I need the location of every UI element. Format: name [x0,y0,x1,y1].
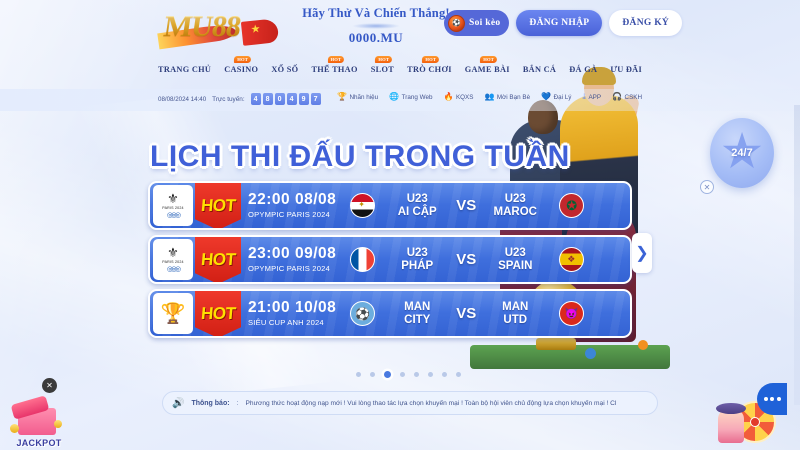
nav-item-3[interactable]: THỂ THAOHOT [311,65,357,74]
match-schedule-list: ⚜PARIS 2024◎◎◎HOT22:00 08/08OPYMPIC PARI… [148,181,648,343]
info-strip-links: 🏆Nhãn hiệu🌐Trang Web🔥KQXS👥Mời Bạn Bè💙Đại… [337,93,642,101]
support-24-7-label: 24/7 [731,147,752,159]
nav-item-label: ĐÁ GÀ [569,65,597,74]
league-logo-mark-icon: ⚜ [167,246,179,259]
away-team-line-2: MAROC [483,206,547,218]
info-link-3[interactable]: 👥Mời Bạn Bè [484,93,530,101]
match-row[interactable]: ⚜PARIS 2024◎◎◎HOT22:00 08/08OPYMPIC PARI… [148,181,632,230]
info-link-label: Trang Web [402,94,433,101]
header-actions: ⚽ Soi kèo ĐĂNG NHẬP ĐĂNG KÝ [444,10,682,36]
support-widget-close-icon[interactable]: ✕ [700,180,714,194]
nav-item-label: GAME BÀI [465,65,510,74]
carousel-dot-7[interactable] [456,372,461,377]
carousel-dot-0[interactable] [356,372,361,377]
announcement-text: Phương thức hoạt động nạp mới ! Vui lòng… [246,400,617,407]
mascot-hat-icon [716,403,746,414]
away-team-name: U23SPAIN [483,247,547,271]
nav-hot-badge: HOT [422,56,439,63]
home-team-line-1: MAN [385,301,449,313]
match-row[interactable]: 🏆HOT21:00 10/08SIÊU CUP ANH 2024MANCITYV… [148,289,632,338]
flame-icon: 🔥 [443,93,453,101]
away-team-name: U23MAROC [483,193,547,217]
more-dots-icon [770,397,774,401]
jackpot-widget[interactable]: JACKPOT [8,398,70,448]
home-team-name: MANCITY [385,301,449,325]
info-link-label: CSKH [625,94,643,101]
current-datetime: 08/08/2024 14:40 [158,96,206,103]
away-team-line-2: SPAIN [483,260,547,272]
nav-item-label: SLOT [371,65,394,74]
counter-digit: 4 [251,93,261,105]
soi-keo-button[interactable]: ⚽ Soi kèo [444,10,509,36]
man-city-crest [350,301,375,326]
hot-badge-label: HOT [200,196,236,216]
nav-item-label: XỔ SỐ [271,65,298,74]
counter-digit: 8 [263,93,273,105]
nav-item-label: CASINO [224,65,258,74]
info-strip-left: 08/08/2024 14:40 Trực tuyến: 480497 [158,93,321,105]
versus-label: VS [449,251,483,268]
jackpot-label: JACKPOT [8,438,70,448]
olympic-rings-icon: ◎◎◎ [167,265,179,273]
site-logo[interactable]: MU88 [158,2,280,48]
match-kickoff: 22:00 08/08 [248,192,336,208]
info-link-4[interactable]: 💙Đại Lý [541,93,571,101]
league-logo-mark-icon: 🏆 [161,304,186,324]
match-time-block: 21:00 10/08SIÊU CUP ANH 2024 [248,300,336,326]
away-team-line-1: U23 [483,247,547,259]
carousel-dot-5[interactable] [428,372,433,377]
wheel-hub-icon [750,417,760,427]
info-link-label: APP [588,94,601,101]
slogan-line-1: Hãy Thử Và Chiến Thắng! [296,6,456,21]
away-team-line-1: U23 [483,193,547,205]
counter-digit: 4 [287,93,297,105]
counter-digit: 7 [311,93,321,105]
nav-hot-badge: HOT [480,56,497,63]
coin-icon [10,424,19,433]
home-team-line-1: U23 [385,193,449,205]
nav-item-4[interactable]: SLOTHOT [371,65,394,74]
online-users-label: Trực tuyến: [212,96,244,103]
match-competition: OPYMPIC PARIS 2024 [248,264,336,273]
spain-flag [559,247,584,272]
nav-hot-badge: HOT [375,56,392,63]
info-link-label: Đại Lý [554,94,572,101]
match-kickoff: 23:00 09/08 [248,246,336,262]
versus-label: VS [449,305,483,322]
away-team-line-1: MAN [483,301,547,313]
carousel-dot-6[interactable] [442,372,447,377]
more-dots-icon [764,397,768,401]
carousel-dot-2[interactable] [384,371,391,378]
page-title: LỊCH THI ĐẤU TRONG TUẦN [150,140,570,174]
football-icon: ⚽ [448,15,465,32]
carousel-dots [356,371,461,378]
more-dots-icon [777,397,781,401]
man-utd-crest [559,301,584,326]
league-logo-mark-icon: ⚜ [167,192,179,205]
info-link-5[interactable]: ⤓APP [582,93,601,101]
league-logo: ⚜PARIS 2024◎◎◎ [153,239,193,280]
more-options-button[interactable] [757,383,787,415]
info-link-label: Mời Bạn Bè [497,94,530,101]
jackpot-close-icon[interactable]: ✕ [42,378,57,393]
heart-icon: 💙 [541,93,551,101]
away-team-line-2: UTD [483,314,547,326]
nav-item-0[interactable]: TRANG CHỦ [158,65,211,74]
site-header: MU88 Hãy Thử Và Chiến Thắng! 0000.MU ⚽ S… [0,0,800,50]
info-strip: 08/08/2024 14:40 Trực tuyến: 480497 🏆Nhã… [0,89,800,111]
nav-hot-badge: HOT [328,56,345,63]
carousel-dot-3[interactable] [400,372,405,377]
match-competition: OPYMPIC PARIS 2024 [248,210,336,219]
info-link-0[interactable]: 🏆Nhãn hiệu [337,93,378,101]
home-team-line-1: U23 [385,247,449,259]
nav-item-2[interactable]: XỔ SỐ [271,65,298,74]
olympic-rings-icon: ◎◎◎ [167,211,179,219]
match-time-block: 22:00 08/08OPYMPIC PARIS 2024 [248,192,336,218]
carousel-dot-1[interactable] [370,372,375,377]
nav-item-label: BẮN CÁ [523,65,556,74]
speaker-icon: 🔊 [172,398,184,409]
away-team-name: MANUTD [483,301,547,325]
nav-item-8[interactable]: ĐÁ GÀ [569,65,597,74]
home-team-name: U23PHÁP [385,247,449,271]
announcement-label: Thông báo: [191,400,229,407]
announcement-bar[interactable]: 🔊 Thông báo: : Phương thức hoạt động nạp… [162,391,658,415]
counter-digit: 9 [299,93,309,105]
nav-item-9[interactable]: ƯU ĐÃI [610,65,642,74]
info-link-label: Nhãn hiệu [349,94,378,101]
main-navigation: TRANG CHỦCASINOHOTXỔ SỐTHỂ THAOHOTSLOTHO… [158,58,642,80]
hot-badge-label: HOT [200,304,236,324]
hot-badge: HOT [195,235,241,284]
carousel-dot-4[interactable] [414,372,419,377]
trophy-icon: 🏆 [337,93,347,101]
carousel-next-button[interactable]: ❯ [632,233,652,273]
nav-item-1[interactable]: CASINOHOT [224,65,258,74]
register-button[interactable]: ĐĂNG KÝ [609,10,682,36]
league-logo-text: PARIS 2024 [162,260,184,264]
download-icon: ⤓ [582,93,586,101]
nav-item-label: TRANG CHỦ [158,65,211,74]
hot-badge: HOT [195,289,241,338]
home-team-line-2: PHÁP [385,260,449,272]
home-team-line-2: CITY [385,314,449,326]
league-logo-text: PARIS 2024 [162,206,184,210]
announcement-colon: : [237,400,239,407]
support-24-7-widget[interactable]: ★ 24/7 [710,118,774,188]
nav-item-6[interactable]: GAME BÀIHOT [465,65,510,74]
match-kickoff: 21:00 10/08 [248,300,336,316]
league-logo: ⚜PARIS 2024◎◎◎ [153,185,193,226]
counter-digit: 0 [275,93,285,105]
match-row[interactable]: ⚜PARIS 2024◎◎◎HOT23:00 09/08OPYMPIC PARI… [148,235,632,284]
info-link-label: KQXS [456,94,474,101]
hero-pitch-strip [470,345,670,369]
confetti [585,348,596,359]
versus-label: VS [449,197,483,214]
mascot-icon [718,409,744,443]
home-team-line-2: AI CẬP [385,206,449,218]
vietnam-flag-icon [241,18,279,46]
online-users-counter: 480497 [251,93,321,105]
morocco-flag [559,193,584,218]
globe-icon: 🌐 [389,93,399,101]
home-team-name: U23AI CẬP [385,193,449,217]
nav-item-5[interactable]: TRÒ CHƠIHOT [407,65,452,74]
info-link-2[interactable]: 🔥KQXS [443,93,473,101]
info-link-6[interactable]: 🎧CSKH [612,93,642,101]
slogan-divider-icon [352,23,400,29]
login-button[interactable]: ĐĂNG NHẬP [516,10,602,36]
soi-keo-label: Soi kèo [469,18,500,28]
match-time-block: 23:00 09/08OPYMPIC PARIS 2024 [248,246,336,272]
headset-icon: 🎧 [612,93,622,101]
france-flag [350,247,375,272]
nav-hot-badge: HOT [234,56,251,63]
nav-item-7[interactable]: BẮN CÁ [523,65,556,74]
site-slogan: Hãy Thử Và Chiến Thắng! 0000.MU [296,6,456,46]
nav-item-label: TRÒ CHƠI [407,65,452,74]
logo-text: MU88 [162,10,243,44]
info-link-1[interactable]: 🌐Trang Web [389,93,432,101]
nav-item-label: THỂ THAO [311,65,357,74]
coin-icon [54,420,62,428]
nav-item-label: ƯU ĐÃI [610,65,642,74]
page-scrollbar[interactable] [794,105,800,405]
egypt-flag [350,193,375,218]
friends-icon: 👥 [484,93,494,101]
league-logo: 🏆 [153,293,193,334]
hot-badge: HOT [195,181,241,230]
hot-badge-label: HOT [200,250,236,270]
slogan-line-2: 0000.MU [296,30,456,46]
match-competition: SIÊU CUP ANH 2024 [248,318,336,327]
